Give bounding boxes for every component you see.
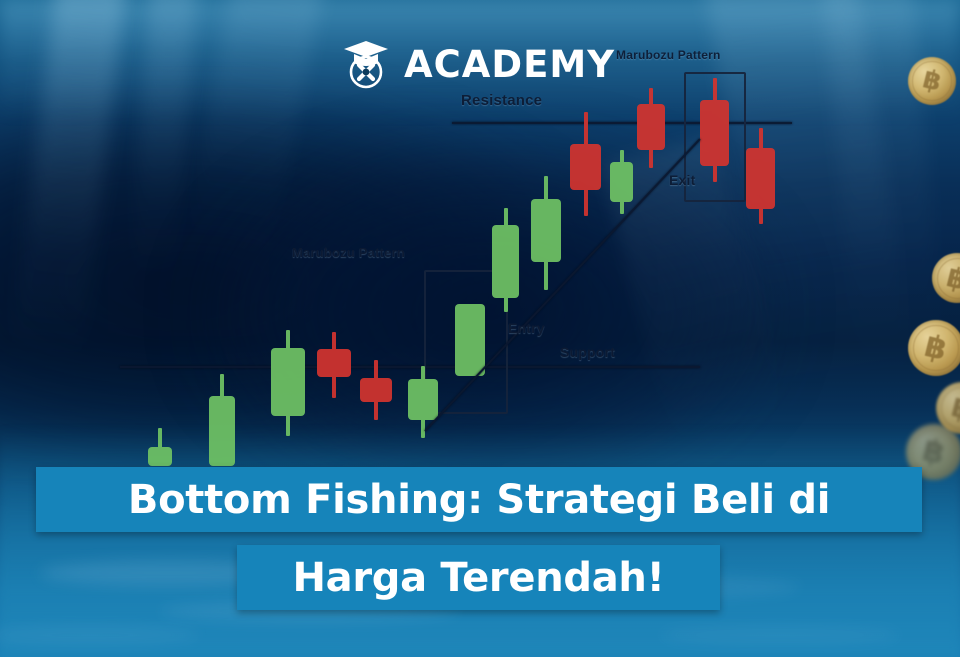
candlestick-up-6: [408, 366, 438, 438]
title-line-1-text: Bottom Fishing: Strategi Beli di: [128, 477, 830, 523]
chart-label-resistance: Resistance: [461, 92, 542, 109]
candle-body: [492, 225, 519, 298]
candlestick-down-4: [317, 332, 351, 398]
candlestick-up-2: [209, 374, 235, 466]
candlestick-down-10: [570, 112, 601, 216]
brand-logo-text: ACADEMY: [404, 43, 615, 86]
title-banner-line-1: Bottom Fishing: Strategi Beli di: [36, 467, 922, 532]
candlestick-down-5: [360, 360, 392, 420]
candle-body: [317, 349, 351, 377]
candlestick-down-14: [746, 128, 775, 224]
chart-label-marubozu-high: Marubozu Pattern: [616, 48, 721, 62]
candle-body: [531, 199, 561, 262]
candle-body: [360, 378, 392, 402]
candlestick-down-13: [700, 78, 729, 182]
chart-label-exit: Exit: [669, 172, 695, 188]
chart-label-entry: Entry: [508, 320, 545, 336]
candlestick-up-8: [492, 208, 519, 312]
candle-body: [637, 104, 665, 150]
candlestick-up-1: [148, 428, 172, 466]
brand-logo: ACADEMY: [338, 36, 615, 92]
candle-body: [209, 396, 235, 466]
graduation-cap-crossed-pickaxe-icon: [338, 36, 394, 92]
candlestick-down-12: [637, 88, 665, 168]
candle-body: [746, 148, 775, 209]
candle-body: [570, 144, 601, 190]
candlestick-up-11: [610, 150, 633, 214]
candle-body: [610, 162, 633, 202]
title-line-2-text: Harga Terendah!: [292, 555, 664, 601]
candlestick-up-9: [531, 176, 561, 290]
chart-label-marubozu-low: Marubozu Pattern: [292, 245, 405, 260]
candle-body: [408, 379, 438, 420]
candle-body: [271, 348, 305, 416]
candle-body: [148, 447, 172, 466]
candlestick-up-3: [271, 330, 305, 436]
candle-body: [700, 100, 729, 166]
title-banner-line-2: Harga Terendah!: [237, 545, 720, 610]
candle-body: [455, 304, 485, 376]
chart-label-support: Support: [560, 344, 615, 360]
promo-banner-image: ฿฿฿฿฿ Marubozu PatternMarubozu PatternRe…: [0, 0, 960, 657]
candlestick-up-7: [455, 304, 485, 376]
